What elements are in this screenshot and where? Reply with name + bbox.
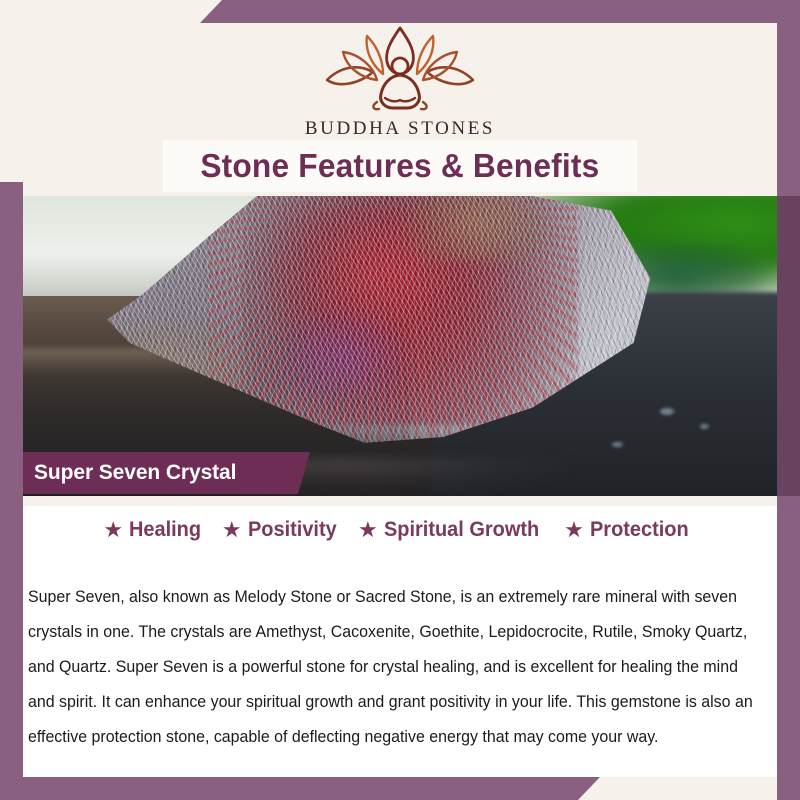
photo-sparkle <box>612 442 623 447</box>
benefit-item: ★ Spiritual Growth <box>358 518 547 542</box>
benefit-label: Healing <box>129 518 201 542</box>
lotus-meditation-icon <box>315 22 485 114</box>
star-icon: ★ <box>564 519 584 541</box>
photo-sparkle <box>700 424 709 429</box>
photo-sparkle <box>660 408 674 415</box>
benefit-item: ★ Healing <box>103 518 205 542</box>
benefits-row: ★ Healing ★ Positivity ★ Spiritual Growt… <box>20 518 777 542</box>
benefit-label: Spiritual Growth <box>384 518 539 542</box>
product-label-banner: Super Seven Crystal <box>20 452 310 494</box>
star-icon: ★ <box>103 519 123 541</box>
infographic-card: BUDDHA STONES Stone Features & Benefits … <box>0 0 800 800</box>
star-icon: ★ <box>358 519 378 541</box>
star-icon: ★ <box>222 519 242 541</box>
benefit-label: Protection <box>590 518 689 542</box>
content-panel: ★ Healing ★ Positivity ★ Spiritual Growt… <box>20 496 777 777</box>
benefit-item: ★ Positivity <box>222 518 341 542</box>
frame-right-shadow <box>777 196 800 496</box>
description-text: Super Seven, also known as Melody Stone … <box>28 580 757 755</box>
title-banner: Stone Features & Benefits <box>163 140 637 192</box>
panel-top-strip <box>20 496 777 506</box>
page-title: Stone Features & Benefits <box>200 147 599 185</box>
super-seven-crystal-photo <box>0 196 800 496</box>
benefit-item: ★ Protection <box>564 518 694 542</box>
product-label: Super Seven Crystal <box>20 461 236 485</box>
frame-bottom-band <box>0 777 800 800</box>
frame-left-band <box>0 182 23 800</box>
benefit-label: Positivity <box>248 518 337 542</box>
brand-logo: BUDDHA STONES <box>0 22 800 140</box>
brand-name: BUDDHA STONES <box>0 118 800 140</box>
